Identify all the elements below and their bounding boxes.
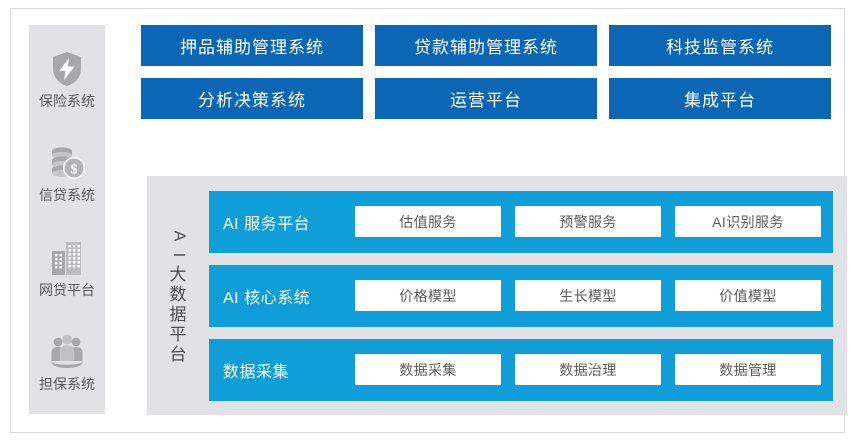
platform-row-ai-service: AI 服务平台 估值服务 预警服务 AI识别服务 — [209, 191, 833, 253]
platform-row-cells: 估值服务 预警服务 AI识别服务 — [355, 206, 821, 237]
system-bar-integration-platform[interactable]: 集成平台 — [609, 78, 831, 119]
platform-row-title: AI 服务平台 — [223, 210, 355, 234]
platform-title-char: 大 — [170, 266, 187, 283]
ai-bigdata-platform-panel: A I 大 数 据 平 台 AI 服务平台 估值服务 预警服务 AI识别服务 A… — [147, 176, 847, 415]
system-bar-loan-management[interactable]: 贷款辅助管理系统 — [375, 25, 597, 66]
system-bar-tech-supervision[interactable]: 科技监管系统 — [609, 25, 831, 66]
platform-cell-data-management[interactable]: 数据管理 — [675, 354, 821, 385]
systems-bars: 押品辅助管理系统 贷款辅助管理系统 科技监管系统 分析决策系统 运营平台 集成平… — [141, 25, 831, 131]
sidebar-item-label: 保险系统 — [39, 94, 95, 108]
platform-vertical-title: A I 大 数 据 平 台 — [147, 176, 209, 415]
platform-row-title: 数据采集 — [223, 358, 355, 382]
platform-rows: AI 服务平台 估值服务 预警服务 AI识别服务 AI 核心系统 价格模型 生长… — [209, 176, 847, 415]
sidebar-item-label: 网贷平台 — [39, 283, 95, 297]
platform-cell-price-model[interactable]: 价格模型 — [355, 280, 501, 311]
system-bar-analysis-decision[interactable]: 分析决策系统 — [141, 78, 363, 119]
systems-row-1: 押品辅助管理系统 贷款辅助管理系统 科技监管系统 — [141, 25, 831, 66]
sidebar-item-label: 信贷系统 — [39, 188, 95, 202]
platform-row-data-collection: 数据采集 数据采集 数据治理 数据管理 — [209, 339, 833, 401]
svg-text:$: $ — [71, 163, 78, 178]
platform-cell-ai-recognition-service[interactable]: AI识别服务 — [675, 206, 821, 237]
shield-bolt-icon — [46, 48, 88, 90]
platform-row-ai-core: AI 核心系统 价格模型 生长模型 价值模型 — [209, 265, 833, 327]
people-group-icon — [46, 331, 88, 373]
platform-title-char: 台 — [170, 346, 187, 363]
buildings-icon — [46, 237, 88, 279]
platform-cell-value-model[interactable]: 价值模型 — [675, 280, 821, 311]
platform-title-char: I — [170, 253, 186, 257]
system-bar-operations-platform[interactable]: 运营平台 — [375, 78, 597, 119]
architecture-diagram: 保险系统 $ 信贷系统 — [10, 8, 845, 433]
coins-dollar-icon: $ — [46, 142, 88, 184]
systems-row-2: 分析决策系统 运营平台 集成平台 — [141, 78, 831, 119]
platform-cell-data-governance[interactable]: 数据治理 — [515, 354, 661, 385]
platform-title-char: 数 — [170, 286, 187, 303]
platform-row-cells: 价格模型 生长模型 价值模型 — [355, 280, 821, 311]
platform-row-cells: 数据采集 数据治理 数据管理 — [355, 354, 821, 385]
platform-title-char: 据 — [170, 306, 187, 323]
platform-title-char: 平 — [170, 326, 187, 343]
sidebar-item-credit[interactable]: $ 信贷系统 — [29, 142, 105, 202]
platform-row-title: AI 核心系统 — [223, 284, 355, 308]
sidebar-item-online-loan[interactable]: 网贷平台 — [29, 237, 105, 297]
sidebar-item-guarantee[interactable]: 担保系统 — [29, 331, 105, 391]
platform-title-char: A — [170, 231, 186, 242]
platform-cell-alert-service[interactable]: 预警服务 — [515, 206, 661, 237]
platform-cell-valuation-service[interactable]: 估值服务 — [355, 206, 501, 237]
platform-cell-data-collection[interactable]: 数据采集 — [355, 354, 501, 385]
platform-cell-growth-model[interactable]: 生长模型 — [515, 280, 661, 311]
sidebar-item-insurance[interactable]: 保险系统 — [29, 48, 105, 108]
sidebar: 保险系统 $ 信贷系统 — [29, 25, 105, 414]
sidebar-item-label: 担保系统 — [39, 377, 95, 391]
system-bar-collateral-management[interactable]: 押品辅助管理系统 — [141, 25, 363, 66]
